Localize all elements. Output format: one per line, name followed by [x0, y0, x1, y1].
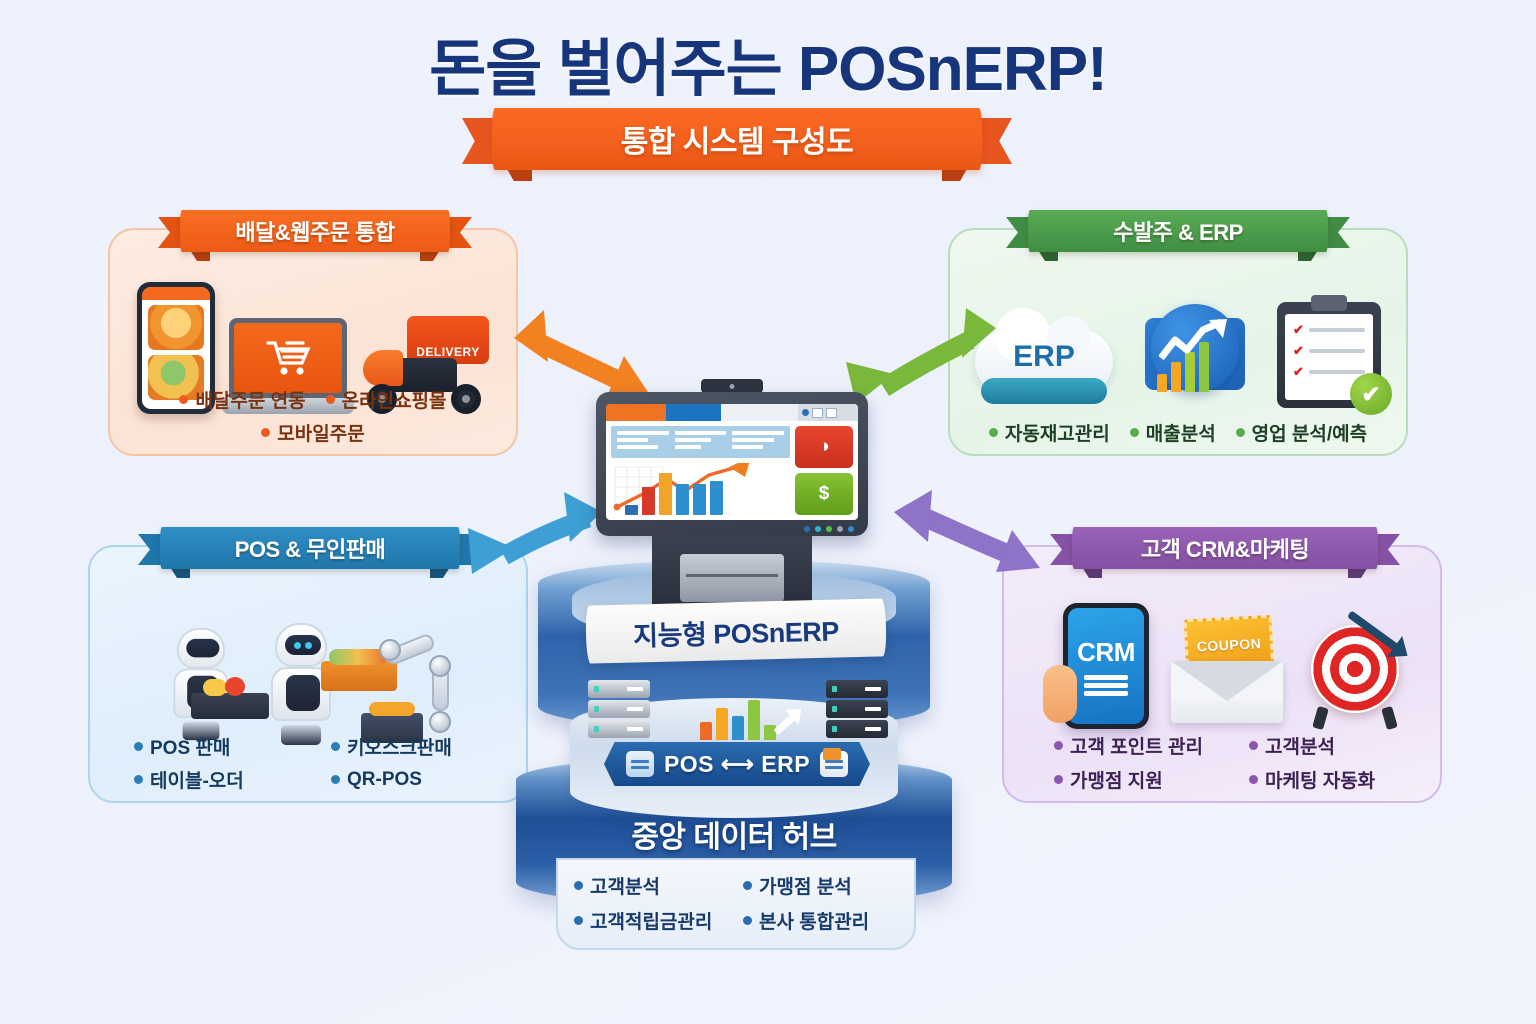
panel-pos-title: POS & 무인판매	[235, 532, 386, 564]
bullet-dot-icon	[1249, 775, 1258, 784]
list-item: 본사 통합관리	[743, 907, 898, 934]
hand-icon	[1043, 665, 1077, 723]
list-item: 고객분석	[1249, 732, 1432, 759]
hub-title: 중앙 데이터 허브	[508, 812, 960, 856]
ribbon-body: 고객 CRM&마케팅	[1072, 527, 1378, 569]
hub-bullets: 고객분석 가맹점 분석 고객적립금관리 본사 통합관리	[556, 858, 916, 950]
list-item: 고객적립금관리	[574, 907, 729, 934]
robotic-arm-icon	[377, 635, 451, 745]
bullet-label: 마케팅 자동화	[1265, 766, 1375, 793]
hub-bar-chart	[700, 700, 776, 740]
hub-banner: 지능형 POSnERP	[585, 598, 886, 663]
bullet-label: 본사 통합관리	[759, 907, 869, 934]
camera-icon	[701, 379, 763, 393]
receipt-printer-icon	[680, 554, 784, 602]
server-rack-left	[588, 680, 650, 740]
bullet-dot-icon	[743, 916, 752, 925]
sales-growth-chart-icon	[1137, 300, 1253, 408]
panel-crm-artwork: CRM COUPON	[1014, 589, 1430, 729]
ribbon-body: 배달&웹주문 통합	[180, 210, 450, 252]
food-tray-icon	[191, 693, 269, 719]
panel-pos-artwork	[100, 595, 516, 745]
bullet-dot-icon	[574, 916, 583, 925]
panel-crm-title: 고객 CRM&마케팅	[1141, 532, 1309, 564]
list-item: 고객 포인트 관리	[1054, 732, 1237, 759]
bullet-label: 고객 포인트 관리	[1070, 732, 1203, 759]
server-rack-right	[826, 680, 888, 740]
pos-terminal[interactable]: ◑ $	[596, 392, 868, 614]
bullet-label: POS 판매	[150, 733, 230, 760]
terminal-action-buttons[interactable]: ◑ $	[795, 426, 853, 515]
toolbar-icon-group[interactable]	[798, 404, 858, 421]
panel-pos-ribbon: POS & 무인판매	[160, 527, 460, 569]
terminal-screen[interactable]: ◑ $	[606, 404, 858, 520]
pos-erp-label: POS ⟷ ERP	[664, 751, 810, 778]
bullet-dot-icon	[331, 775, 340, 784]
bullet-dot-icon	[326, 395, 335, 404]
panel-order-erp[interactable]: 수발주 & ERP ERP ✔ ✔	[948, 228, 1408, 456]
page-title: 돈을 벌어주는 POSnERP!	[0, 18, 1536, 108]
ribbon-body: POS & 무인판매	[160, 527, 460, 569]
bullet-label: 고객분석	[1265, 732, 1335, 759]
hub-banner-label: 지능형 POSnERP	[633, 609, 839, 653]
panel-delivery-web-order[interactable]: 배달&웹주문 통합 DELIVERY 배달주문 연동	[108, 228, 518, 456]
list-item: POS 판매	[134, 733, 321, 760]
bullet-label: 테이블-오더	[150, 766, 244, 793]
erp-cloud-label: ERP	[975, 340, 1113, 374]
list-item: 배달주문 연동	[179, 386, 305, 413]
toolbar-tab-active[interactable]	[606, 404, 666, 421]
panel-pos-unmanned-sales[interactable]: POS & 무인판매	[88, 545, 528, 803]
panel-customer-crm-marketing[interactable]: 고객 CRM&마케팅 CRM COUPON 고객 포인트 관리 고객분석 가맹점…	[1002, 545, 1442, 803]
list-item: 가맹점 분석	[743, 872, 898, 899]
bullet-dot-icon	[1236, 428, 1245, 437]
list-item: 자동재고관리	[989, 419, 1110, 446]
service-robot-left-icon	[165, 623, 237, 745]
dashboard-table-header	[611, 426, 790, 458]
clipboard-clip	[1311, 295, 1347, 311]
terminal-bezel: ◑ $	[596, 392, 868, 536]
list-item: 가맹점 지원	[1054, 766, 1237, 793]
toolbar-search-field[interactable]	[721, 404, 798, 421]
header-ribbon: 통합 시스템 구성도	[492, 108, 982, 170]
bullet-dot-icon	[331, 742, 340, 751]
ribbon-body: 수발주 & ERP	[1028, 210, 1328, 252]
bullet-dot-icon	[1054, 775, 1063, 784]
terminal-toolbar[interactable]	[606, 404, 858, 421]
check-icon: ✔	[1293, 323, 1304, 336]
panel-erp-title: 수발주 & ERP	[1113, 215, 1243, 247]
bullet-dot-icon	[179, 395, 188, 404]
panel-delivery-title: 배달&웹주문 통합	[235, 215, 394, 247]
bullet-label: 영업 분석/예측	[1252, 419, 1367, 446]
crm-label: CRM	[1077, 637, 1135, 668]
panel-crm-ribbon: 고객 CRM&마케팅	[1072, 527, 1378, 569]
document-icon	[820, 751, 848, 777]
growth-arrow-icon	[774, 710, 801, 735]
list-item: 고객분석	[574, 872, 729, 899]
list-item: 테이블-오더	[134, 766, 321, 793]
bullet-label: 가맹점 분석	[759, 872, 852, 899]
list-item: 매출분석	[1130, 419, 1216, 446]
pos-register-icon	[626, 751, 654, 777]
hub-server-racks	[588, 672, 888, 740]
bullet-dot-icon	[989, 428, 998, 437]
panel-pos-bullets: POS 판매 키오스크판매 테이블-오더 QR-POS	[98, 733, 518, 793]
bullet-label: 가맹점 지원	[1070, 766, 1163, 793]
bullet-label: 자동재고관리	[1005, 419, 1110, 446]
list-item: 키오스크판매	[331, 733, 518, 760]
success-check-icon: ✔	[1350, 373, 1392, 415]
erp-cloud-icon: ERP	[975, 312, 1113, 408]
bullet-label: 온라인쇼핑몰	[342, 386, 447, 413]
bullet-label: 배달주문 연동	[195, 386, 305, 413]
bullet-dot-icon	[1054, 741, 1063, 750]
bullet-dot-icon	[574, 881, 583, 890]
cash-payment-button[interactable]: $	[795, 473, 853, 515]
bullet-dot-icon	[1130, 428, 1139, 437]
checklist-clipboard-icon: ✔ ✔ ✔ ✔	[1277, 302, 1381, 408]
panel-erp-ribbon: 수발주 & ERP	[1028, 210, 1328, 252]
dashboard-bars	[625, 473, 723, 515]
panel-erp-artwork: ERP ✔ ✔ ✔ ✔	[960, 278, 1396, 408]
list-item: QR-POS	[331, 769, 518, 791]
panel-erp-bullets: 자동재고관리 매출분석 영업 분석/예측	[958, 419, 1398, 446]
coupon-envelope-icon: COUPON	[1171, 617, 1283, 729]
bullet-label: 키오스크판매	[347, 733, 452, 760]
ribbon-body: 통합 시스템 구성도	[492, 108, 982, 170]
crm-phone-icon: CRM	[1063, 603, 1149, 729]
list-item: 마케팅 자동화	[1249, 766, 1432, 793]
bullet-label: 고객적립금관리	[590, 907, 712, 934]
dashboard-chart	[611, 426, 790, 515]
list-item: 영업 분석/예측	[1236, 419, 1367, 446]
bullet-label: 매출분석	[1146, 419, 1216, 446]
marketing-target-icon	[1305, 625, 1405, 729]
bullet-label: 모바일주문	[277, 419, 364, 446]
panel-delivery-ribbon: 배달&웹주문 통합	[180, 210, 450, 252]
list-item: 온라인쇼핑몰	[326, 386, 447, 413]
delivery-box-label: DELIVERY	[416, 345, 480, 359]
card-payment-button[interactable]: ◑	[795, 426, 853, 468]
coupon-label: COUPON	[1196, 635, 1261, 654]
check-icon: ✔	[1293, 365, 1304, 378]
bullet-dot-icon	[1249, 741, 1258, 750]
bullet-dot-icon	[261, 428, 270, 437]
list-item: 모바일주문	[261, 419, 364, 446]
toolbar-tab-second[interactable]	[666, 404, 721, 421]
panel-delivery-bullets: 배달주문 연동 온라인쇼핑몰 모바일주문	[118, 386, 508, 446]
pos-erp-link-pill: POS ⟷ ERP	[604, 742, 870, 786]
service-robot-center-icon	[265, 623, 337, 745]
header-ribbon-label: 통합 시스템 구성도	[621, 117, 853, 161]
bullet-label: 고객분석	[590, 872, 660, 899]
bullet-dot-icon	[134, 775, 143, 784]
panel-crm-bullets: 고객 포인트 관리 고객분석 가맹점 지원 마케팅 자동화	[1012, 732, 1432, 793]
status-leds	[804, 526, 854, 532]
bullet-dot-icon	[743, 881, 752, 890]
check-icon: ✔	[1293, 344, 1304, 357]
bullet-dot-icon	[134, 742, 143, 751]
central-data-hub: 지능형 POSnERP POS ⟷ ERP 중앙 데이터 허브 고객분석 가맹점…	[508, 560, 960, 960]
bullet-label: QR-POS	[347, 769, 422, 791]
